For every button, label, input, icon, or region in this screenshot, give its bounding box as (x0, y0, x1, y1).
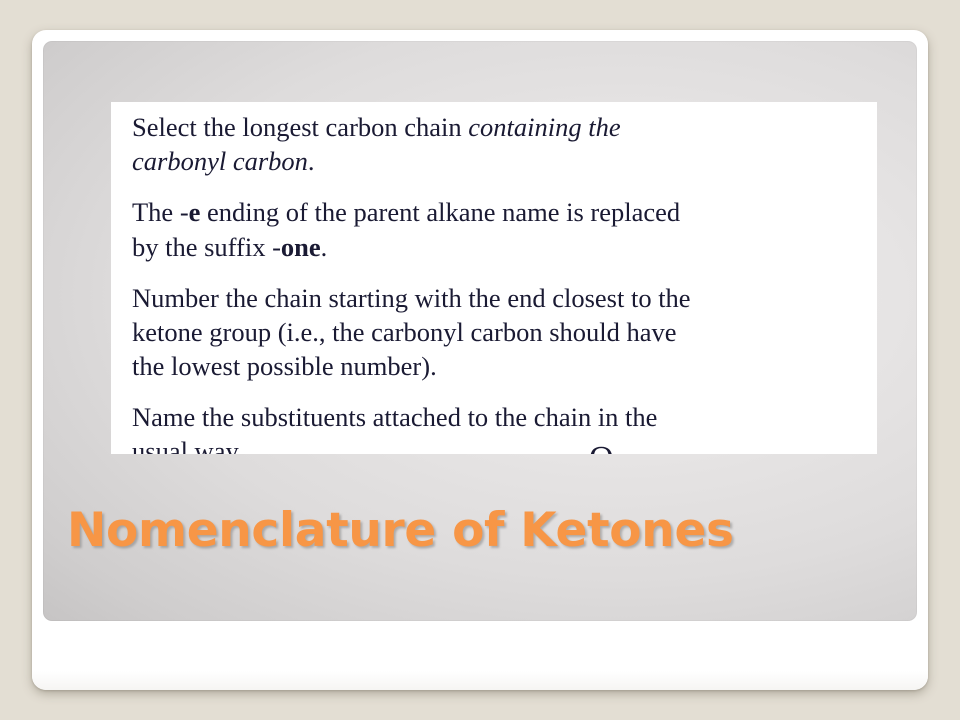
slide-title: Nomenclature of Ketones (67, 503, 887, 558)
rule-text-run: usual way. (132, 436, 244, 454)
rule-text-run: Number the chain starting with the end c… (132, 283, 691, 313)
rule-text-run: ketone group (i.e., the carbonyl carbon … (132, 317, 677, 347)
rule-paragraph: Select the longest carbon chain containi… (132, 110, 877, 178)
rule-text-run: Select the longest carbon chain (132, 112, 468, 142)
slide-content-panel: Select the longest carbon chain containi… (43, 41, 917, 621)
rule-paragraph: Name the substituents attached to the ch… (132, 400, 877, 454)
card-footer (32, 622, 928, 690)
rule-text-run-italic: carbonyl carbon (132, 146, 308, 176)
rule-text-run: . (321, 232, 328, 262)
rule-paragraph: The -e ending of the parent alkane name … (132, 195, 877, 263)
slide-card: Select the longest carbon chain containi… (32, 30, 928, 690)
content-image-block: Select the longest carbon chain containi… (111, 102, 877, 454)
rule-text-run: . (308, 146, 315, 176)
rule-text-run: ending of the parent alkane name is repl… (200, 197, 680, 227)
rule-text-run: the lowest possible number). (132, 351, 437, 381)
rules-text: Select the longest carbon chain containi… (132, 110, 877, 454)
carbonyl-oxygen-glyph: O (589, 442, 614, 454)
rule-text-run: Name the substituents attached to the ch… (132, 402, 657, 432)
rule-text-run-italic: containing the (468, 112, 620, 142)
rule-text-run: The - (132, 197, 189, 227)
rule-text-run: by the suffix - (132, 232, 281, 262)
rule-text-run-bold: e (189, 197, 201, 227)
rule-paragraph: Number the chain starting with the end c… (132, 281, 877, 384)
rule-text-run-bold: one (281, 232, 321, 262)
